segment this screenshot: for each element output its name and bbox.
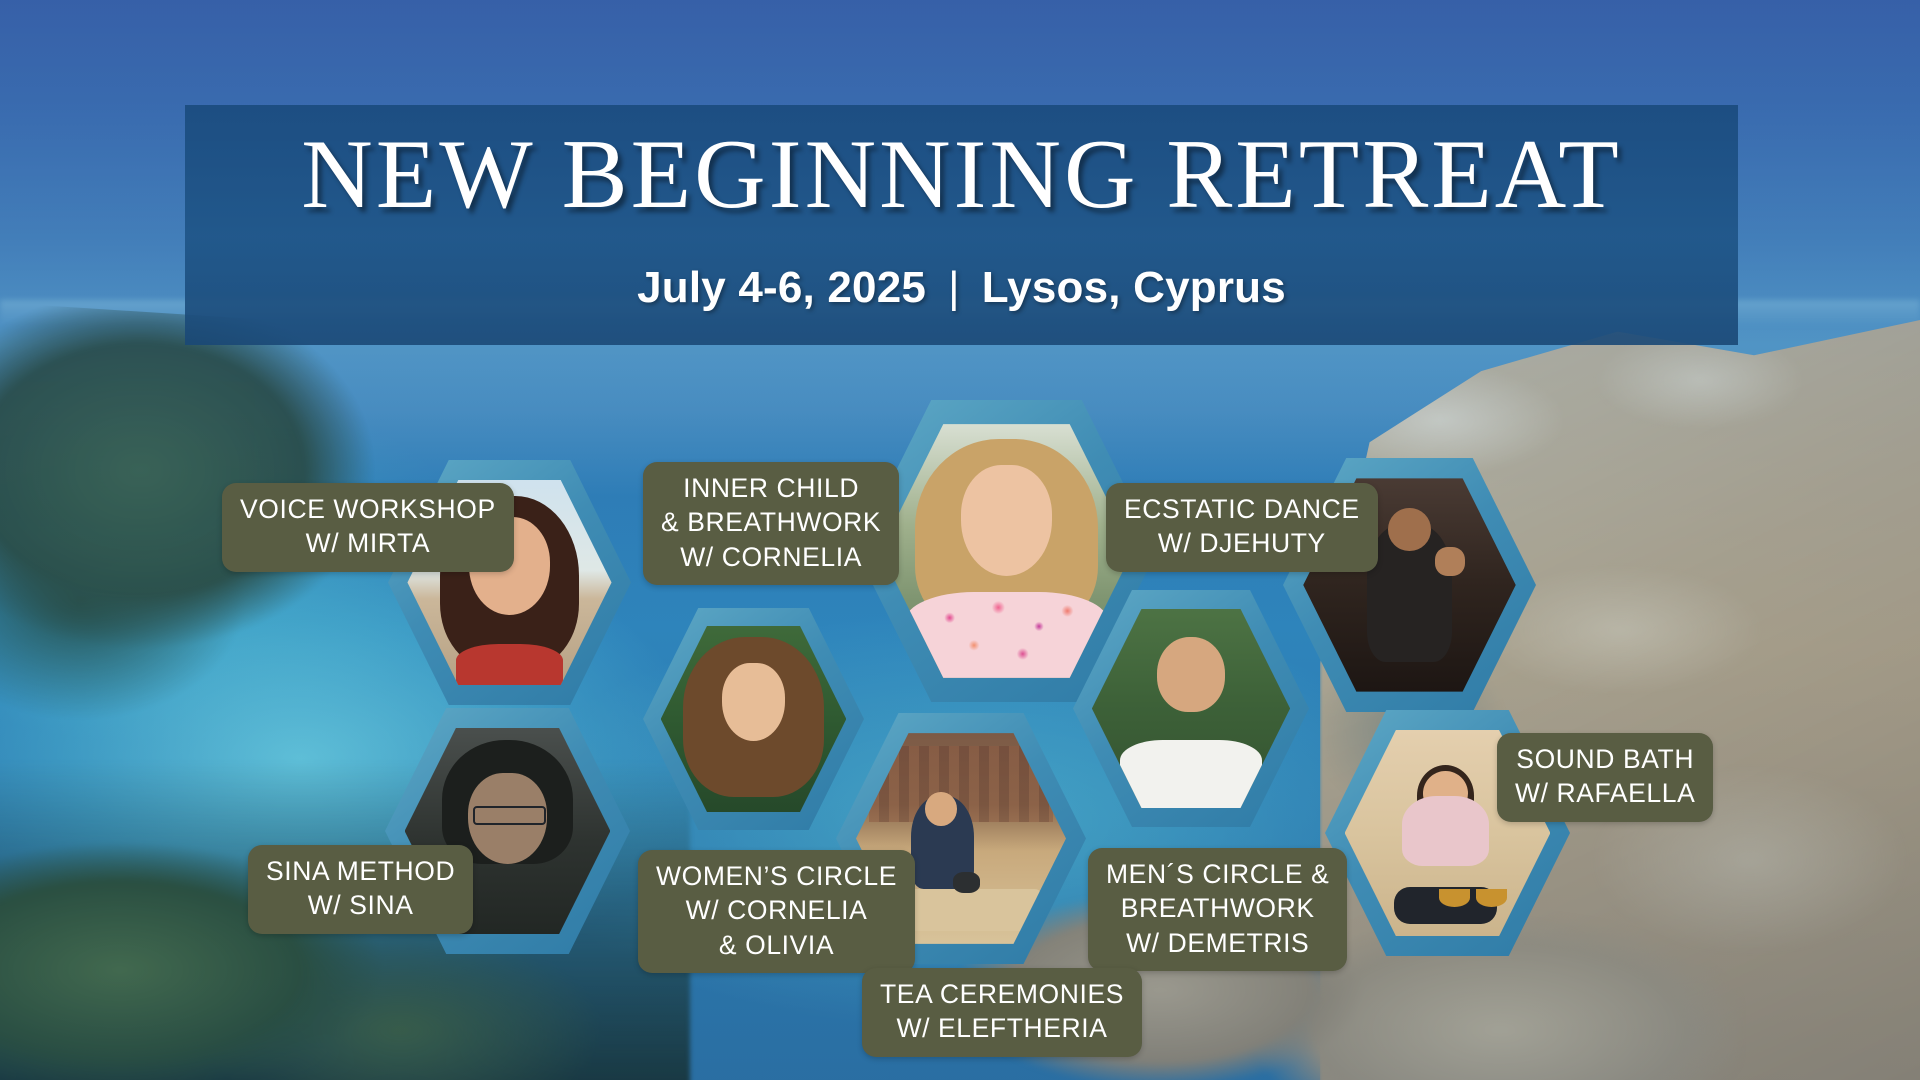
portrait-demetris	[1092, 609, 1290, 808]
session-label-tea-ceremonies: TEA CEREMONIES W/ ELEFTHERIA	[862, 968, 1142, 1057]
session-label-inner-child-breathwork: INNER CHILD & BREATHWORK W/ CORNELIA	[643, 462, 899, 585]
title-banner: NEW BEGINNING RETREAT July 4-6, 2025|Lys…	[185, 105, 1738, 345]
session-label-sina-method: SINA METHOD W/ SINA	[248, 845, 473, 934]
page-title: NEW BEGINNING RETREAT	[185, 123, 1738, 228]
label-line: SINA METHOD	[266, 854, 455, 888]
label-line: WOMEN’S CIRCLE	[656, 859, 897, 893]
label-line: W/ DEMETRIS	[1106, 926, 1329, 960]
label-line: W/ ELEFTHERIA	[880, 1011, 1124, 1045]
session-label-ecstatic-dance: ECSTATIC DANCE W/ DJEHUTY	[1106, 483, 1378, 572]
session-label-womens-circle: WOMEN’S CIRCLE W/ CORNELIA & OLIVIA	[638, 850, 915, 973]
label-line: & OLIVIA	[656, 928, 897, 962]
label-line: W/ CORNELIA	[661, 540, 881, 574]
portrait-frame	[661, 626, 847, 812]
label-line: W/ RAFAELLA	[1515, 776, 1695, 810]
label-line: ECSTATIC DANCE	[1124, 492, 1360, 526]
label-line: W/ CORNELIA	[656, 893, 897, 927]
label-line: W/ SINA	[266, 888, 455, 922]
session-label-sound-bath: SOUND BATH W/ RAFAELLA	[1497, 733, 1713, 822]
session-label-voice-workshop: VOICE WORKSHOP W/ MIRTA	[222, 483, 514, 572]
label-line: MEN´S CIRCLE &	[1106, 857, 1329, 891]
session-label-mens-circle-breathwork: MEN´S CIRCLE & BREATHWORK W/ DEMETRIS	[1088, 848, 1347, 971]
portrait-frame	[1092, 609, 1290, 808]
portrait-frame	[880, 424, 1133, 678]
label-line: TEA CEREMONIES	[880, 977, 1124, 1011]
poster-canvas: NEW BEGINNING RETREAT July 4-6, 2025|Lys…	[0, 0, 1920, 1080]
label-line: W/ DJEHUTY	[1124, 526, 1360, 560]
event-subtitle: July 4-6, 2025|Lysos, Cyprus	[185, 263, 1738, 313]
label-line: INNER CHILD	[661, 471, 881, 505]
event-location: Lysos, Cyprus	[982, 263, 1286, 312]
label-line: & BREATHWORK	[661, 505, 881, 539]
portrait-cornelia	[880, 424, 1133, 678]
label-line: VOICE WORKSHOP	[240, 492, 496, 526]
portrait-olivia	[661, 626, 847, 812]
label-line: W/ MIRTA	[240, 526, 496, 560]
event-date: July 4-6, 2025	[637, 263, 926, 312]
label-line: BREATHWORK	[1106, 891, 1329, 925]
label-line: SOUND BATH	[1515, 742, 1695, 776]
subtitle-separator: |	[926, 263, 982, 313]
